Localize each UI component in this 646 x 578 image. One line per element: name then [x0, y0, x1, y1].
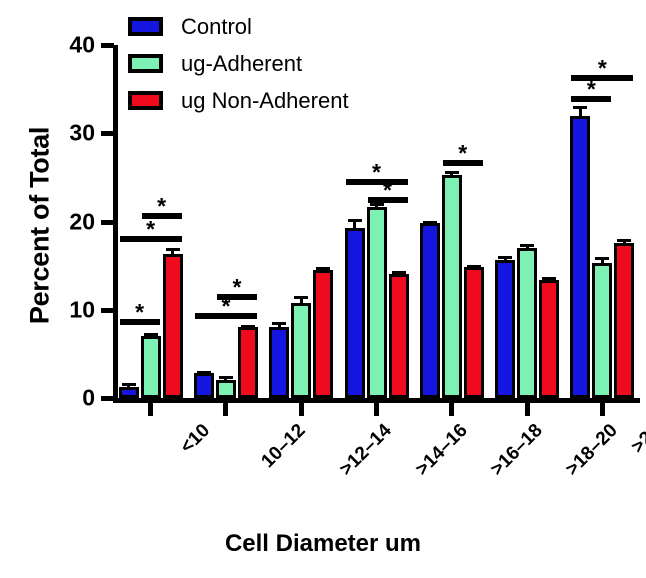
error-bar-cap — [542, 277, 556, 280]
x-tick-label: >16–18 — [487, 420, 548, 481]
significance-asterisk: * — [372, 161, 381, 184]
error-bar-cap — [316, 267, 330, 270]
error-bar-cap — [595, 257, 609, 260]
bar — [345, 228, 365, 398]
bar — [517, 248, 537, 398]
error-bar-cap — [219, 376, 233, 379]
y-tick-label: 10 — [69, 296, 95, 323]
error-bar-cap — [520, 244, 534, 247]
bar — [592, 263, 612, 398]
significance-asterisk: * — [383, 179, 392, 202]
error-bar-cap — [392, 271, 406, 274]
error-bar-cap — [241, 325, 255, 328]
y-axis-label: Percent of Total — [25, 46, 56, 406]
y-tick-mark — [101, 396, 114, 401]
y-tick-label: 20 — [69, 208, 95, 235]
y-tick-mark — [101, 220, 114, 225]
error-bar-cap — [294, 296, 308, 299]
error-bar-cap — [197, 371, 211, 374]
bar — [495, 260, 515, 398]
bar — [420, 223, 440, 398]
legend-item-control: Control — [128, 8, 349, 45]
x-tick-mark — [374, 403, 379, 416]
x-tick-label: <10 — [176, 420, 214, 458]
x-tick-label: >14–16 — [411, 420, 472, 481]
x-tick-label: 10–12 — [257, 420, 310, 473]
y-tick-label: 30 — [69, 120, 95, 147]
y-tick-label: 40 — [69, 32, 95, 59]
y-tick-label: 0 — [82, 385, 95, 412]
x-tick-label: >12–14 — [336, 420, 397, 481]
significance-asterisk: * — [458, 142, 467, 165]
bar — [141, 336, 161, 398]
x-tick-mark — [299, 403, 304, 416]
plot-area: 010203040<1010–12>12–14>14–16>16–18>18–2… — [113, 45, 640, 398]
y-tick-mark — [101, 43, 114, 48]
error-bar-cap — [467, 265, 481, 268]
significance-asterisk: * — [157, 195, 166, 218]
error-bar-cap — [423, 221, 437, 224]
significance-asterisk: * — [135, 301, 144, 324]
significance-asterisk: * — [598, 57, 607, 80]
bar — [194, 373, 214, 398]
legend-label-control: Control — [181, 14, 252, 40]
x-tick-mark — [148, 403, 153, 416]
bar — [367, 207, 387, 398]
x-tick-label: >18–20 — [562, 420, 623, 481]
significance-asterisk: * — [587, 78, 596, 101]
x-tick-mark — [449, 403, 454, 416]
significance-asterisk: * — [146, 218, 155, 241]
error-bar-cap — [166, 248, 180, 251]
y-tick-mark — [101, 308, 114, 313]
significance-asterisk: * — [232, 276, 241, 299]
x-axis-label: Cell Diameter um — [0, 530, 646, 558]
x-tick-label: >20 — [628, 420, 646, 458]
error-bar-cap — [348, 219, 362, 222]
y-tick-mark — [101, 131, 114, 136]
error-bar-cap — [498, 256, 512, 259]
x-tick-mark — [223, 403, 228, 416]
bar — [614, 243, 634, 398]
bar — [216, 380, 236, 398]
error-bar-cap — [573, 106, 587, 109]
legend-swatch-control — [128, 17, 163, 36]
bar — [269, 327, 289, 398]
bar — [464, 267, 484, 398]
bar — [313, 270, 333, 398]
bar — [238, 327, 258, 398]
x-tick-mark — [525, 403, 530, 416]
error-bar-cap — [144, 333, 158, 336]
error-bar-cap — [122, 383, 136, 386]
bar — [291, 303, 311, 398]
bar — [539, 280, 559, 398]
x-tick-mark — [600, 403, 605, 416]
bar — [570, 116, 590, 398]
bar — [442, 175, 462, 398]
error-bar-cap — [370, 203, 384, 206]
error-bar-cap — [617, 239, 631, 242]
error-bar-cap — [272, 322, 286, 325]
bar — [119, 387, 139, 398]
bar — [163, 254, 183, 398]
error-bar-cap — [445, 171, 459, 174]
bar — [389, 274, 409, 398]
bar-chart-figure: Percent of Total Cell Diameter um Contro… — [0, 0, 646, 578]
